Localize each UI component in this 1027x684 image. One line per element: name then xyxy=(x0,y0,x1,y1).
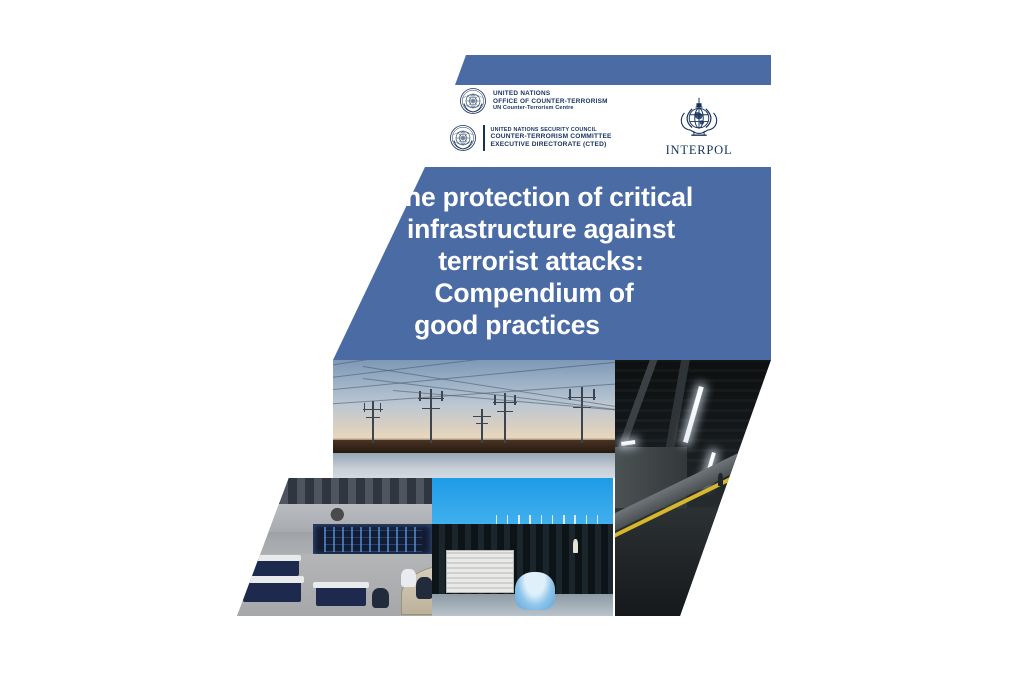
top-accent-band xyxy=(455,55,771,85)
cted-logo-line-3: EXECUTIVE DIRECTORATE (CTED) xyxy=(491,141,612,149)
interpol-logo: INTERPOL xyxy=(660,96,738,158)
document-cover: UNITED NATIONS OFFICE OF COUNTER-TERRORI… xyxy=(0,0,1027,684)
interpol-wordmark: INTERPOL xyxy=(660,143,738,158)
title-line-3: terrorist attacks: xyxy=(351,245,731,277)
photo-collage xyxy=(237,360,771,616)
photo-hydroelectric-dam xyxy=(432,478,613,616)
un-logo-line-3: UN Counter-Terrorism Centre xyxy=(493,105,608,112)
desk-surface xyxy=(246,555,302,561)
title-line-1: The protection of critical xyxy=(351,181,731,213)
united-nations-emblem-icon xyxy=(460,88,486,114)
un-cted-logo-text: UNITED NATIONS SECURITY COUNCIL COUNTER-… xyxy=(491,127,612,149)
pylon-icon xyxy=(363,401,383,443)
operator-desk xyxy=(316,586,366,607)
logo-divider-rule xyxy=(483,125,485,151)
photo-utility-tunnel xyxy=(615,360,771,616)
cover-title: The protection of critical infrastructur… xyxy=(333,167,771,360)
wall-logo xyxy=(325,508,366,520)
un-office-of-counter-terrorism-logo: UNITED NATIONS OFFICE OF COUNTER-TERRORI… xyxy=(460,88,608,114)
pylon-icon xyxy=(568,387,596,443)
person-seated xyxy=(372,588,390,607)
person-walking xyxy=(718,473,723,486)
operator-desk xyxy=(243,580,302,602)
pylon-icon xyxy=(473,409,491,443)
interpol-emblem-icon xyxy=(673,96,725,142)
powerhouse-building xyxy=(446,550,513,593)
tower-structure xyxy=(573,539,578,553)
title-line-2: infrastructure against xyxy=(351,213,731,245)
desk-surface xyxy=(240,576,304,583)
person-walking xyxy=(730,480,735,494)
video-wall-screen xyxy=(313,524,432,556)
person-standing xyxy=(401,569,416,587)
person-seated xyxy=(416,577,434,599)
un-logo-line-2: OFFICE OF COUNTER-TERRORISM xyxy=(493,98,608,106)
spillway-discharge xyxy=(515,572,555,611)
un-cted-logo: UNITED NATIONS SECURITY COUNCIL COUNTER-… xyxy=(450,125,612,151)
united-nations-emblem-icon xyxy=(450,125,476,151)
un-logo-line-1: UNITED NATIONS xyxy=(493,90,608,98)
title-line-4: Compendium of xyxy=(337,277,731,309)
un-office-logo-text: UNITED NATIONS OFFICE OF COUNTER-TERRORI… xyxy=(493,90,608,112)
desk-surface xyxy=(313,582,369,589)
cted-logo-line-2: COUNTER-TERRORISM COMMITTEE xyxy=(491,133,612,141)
title-line-5: good practices xyxy=(283,309,731,341)
